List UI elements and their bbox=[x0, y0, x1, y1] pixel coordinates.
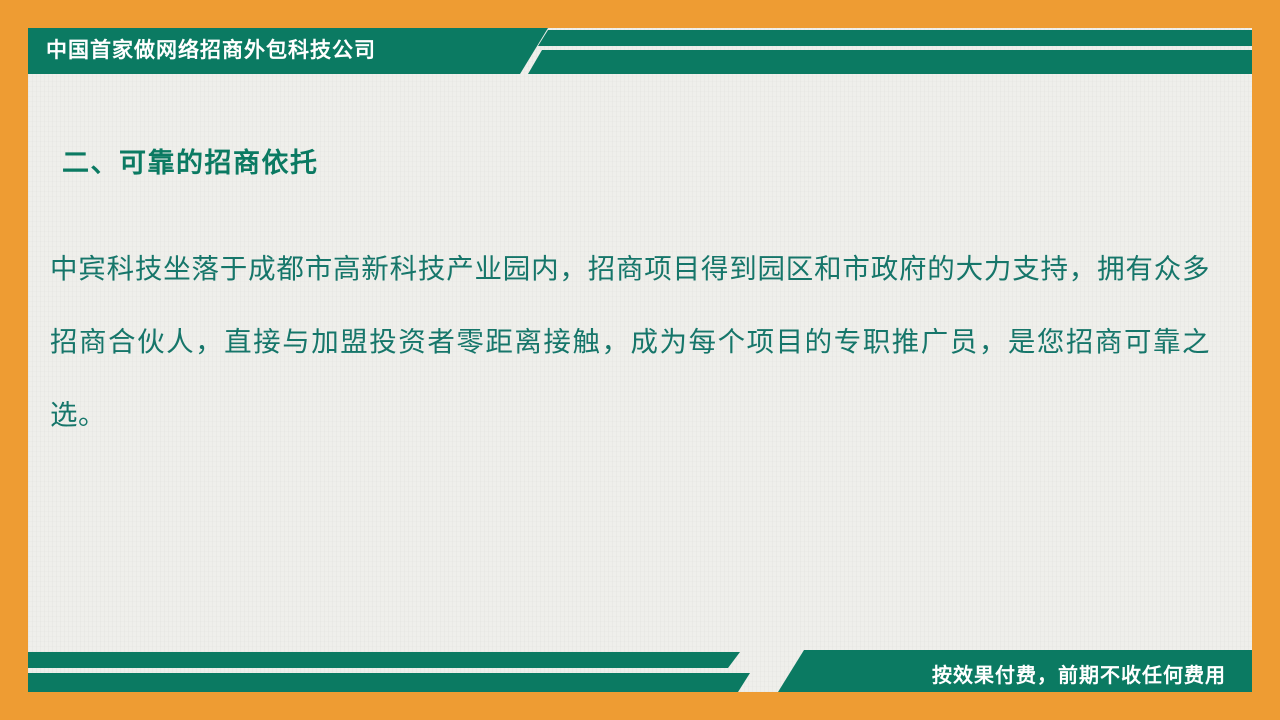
header-band: 中国首家做网络招商外包科技公司 bbox=[28, 28, 1252, 74]
slide: 中国首家做网络招商外包科技公司 二、可靠的招商依托 中宾科技坐落于成都市高新科技… bbox=[0, 0, 1280, 720]
header-title: 中国首家做网络招商外包科技公司 bbox=[46, 37, 376, 65]
slide-page-area: 中国首家做网络招商外包科技公司 二、可靠的招商依托 中宾科技坐落于成都市高新科技… bbox=[28, 28, 1252, 692]
header-accent-stripe-bottom bbox=[528, 50, 1252, 74]
footer-band: 按效果付费，前期不收任何费用 bbox=[28, 650, 1252, 692]
body-paragraph: 中宾科技坐落于成都市高新科技产业园内，招商项目得到园区和市政府的大力支持，拥有众… bbox=[50, 233, 1210, 452]
footer-tagline: 按效果付费，前期不收任何费用 bbox=[932, 659, 1226, 688]
footer-accent-stripe-bottom bbox=[28, 673, 750, 692]
header-accent-stripe-top bbox=[538, 30, 1252, 46]
footer-accent-stripe-top bbox=[28, 652, 740, 668]
section-heading: 二、可靠的招商依托 bbox=[62, 141, 319, 180]
